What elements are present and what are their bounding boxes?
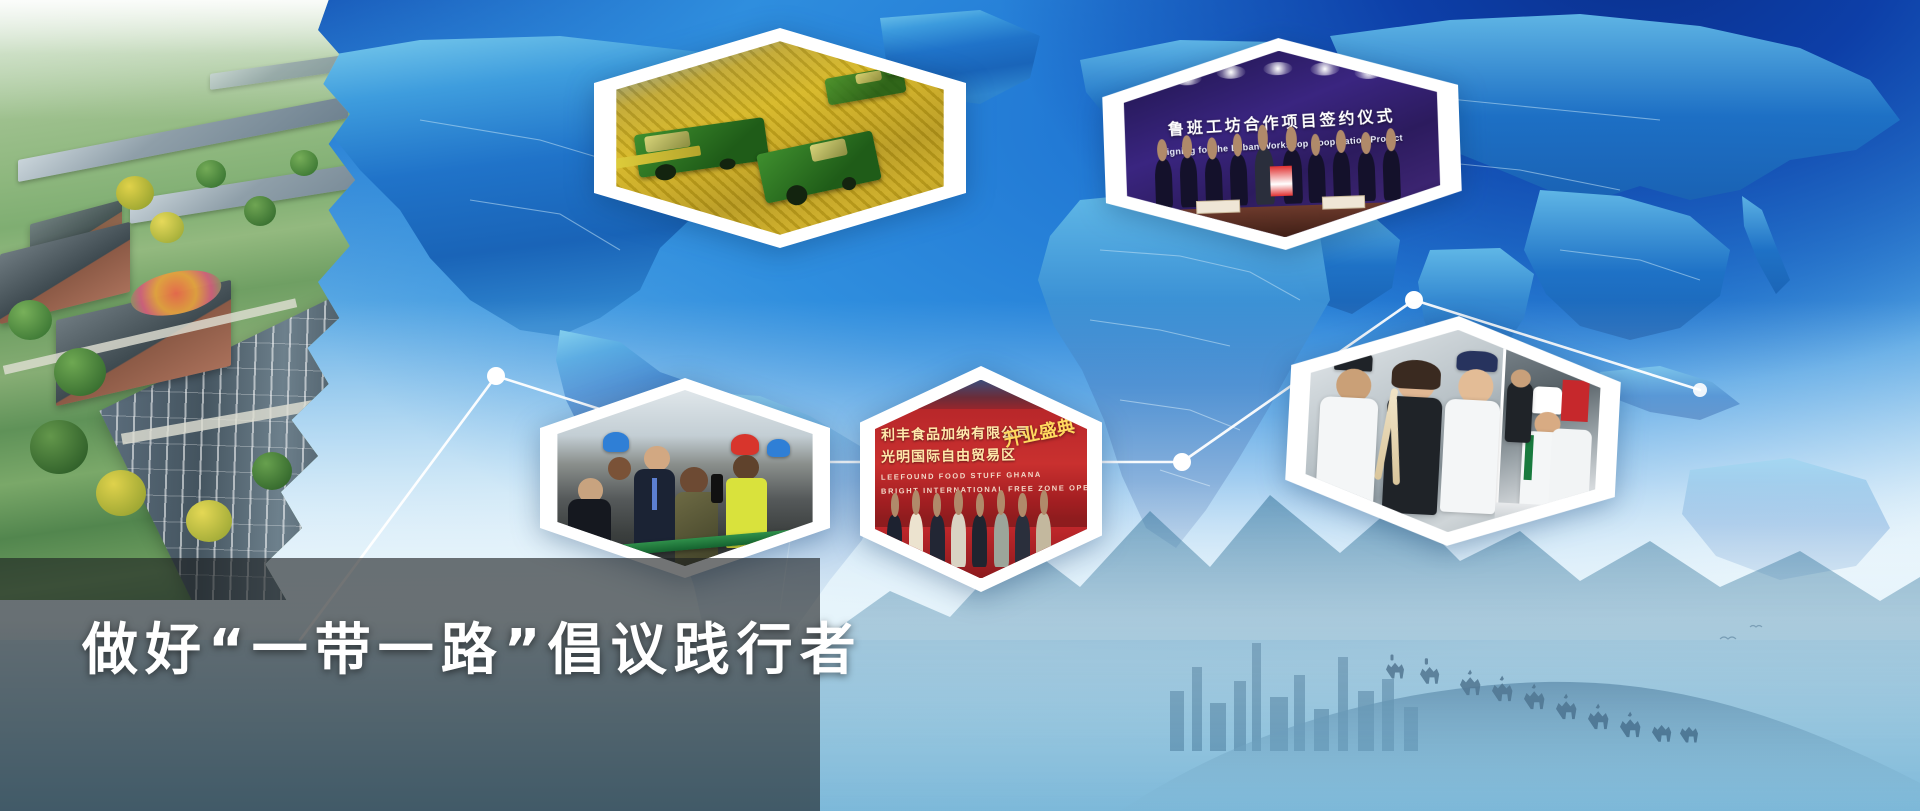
hex-photo-culinary-training[interactable] [1282, 308, 1624, 555]
banner-stage: 鲁班工坊合作项目签约仪式 Signing for the Luban Works… [0, 0, 1920, 811]
chef-photo-content [1303, 322, 1604, 539]
hex-photo-ghana-factory-opening[interactable]: 利丰食品加纳有限公司 光明国际自由贸易区 LEEFOUND FOOD STUFF… [860, 366, 1102, 592]
hex-photo-luban-workshop-signing[interactable]: 鲁班工坊合作项目签约仪式 Signing for the Luban Works… [1100, 32, 1463, 256]
farm-photo-content [616, 41, 943, 235]
ghana-banner-en-line1: LEEFOUND FOOD STUFF GHANA [881, 469, 1081, 481]
page-title: 做好“一带一路”倡议践行者 [82, 605, 822, 686]
site-photo-content [557, 390, 812, 566]
ghana-photo-content: 利丰食品加纳有限公司 光明国际自由贸易区 LEEFOUND FOOD STUFF… [875, 380, 1088, 579]
ghana-banner-cn-line2: 光明国际自由贸易区 [881, 443, 1081, 466]
hex-photo-overseas-site-visit[interactable] [540, 378, 830, 578]
luban-photo-content: 鲁班工坊合作项目签约仪式 Signing for the Luban Works… [1122, 45, 1442, 242]
hex-photo-agricultural-harvest[interactable] [594, 28, 966, 248]
